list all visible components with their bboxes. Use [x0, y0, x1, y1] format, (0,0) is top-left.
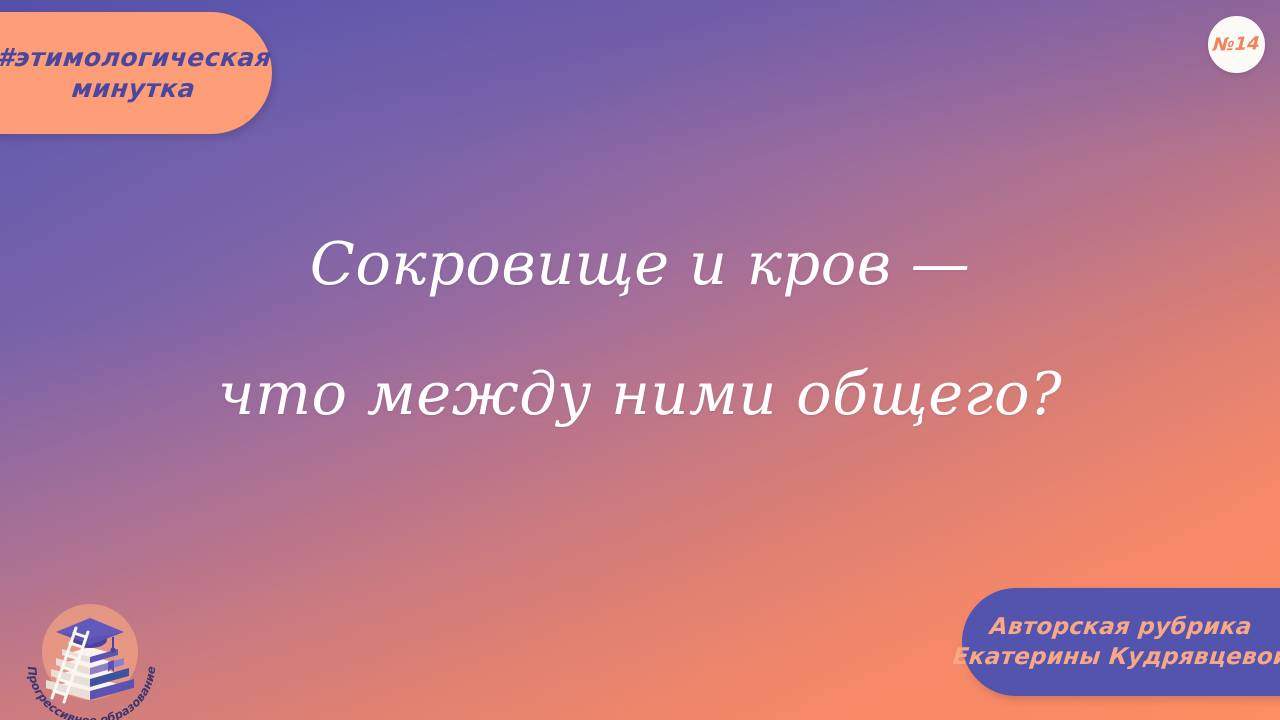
author-badge-line-2: Екатерины Кудрявцевой	[951, 642, 1280, 672]
episode-number-label: №14	[1213, 33, 1261, 56]
episode-number-badge: №14	[1208, 16, 1265, 73]
author-badge: Авторская рубрика Екатерины Кудрявцевой	[962, 588, 1280, 696]
slide-canvas: #этимологическая минутка №14 Сокровище и…	[0, 0, 1280, 720]
graduation-cap-books-ladder-icon: Прогрессивное образование	[20, 592, 170, 720]
brand-logo: Прогрессивное образование	[20, 592, 170, 720]
hashtag-badge: #этимологическая минутка	[0, 12, 272, 134]
hashtag-badge-line-2: минутка	[71, 73, 198, 104]
hashtag-badge-line-1: #этимологическая	[0, 42, 273, 73]
author-badge-line-1: Авторская рубрика	[988, 612, 1253, 642]
